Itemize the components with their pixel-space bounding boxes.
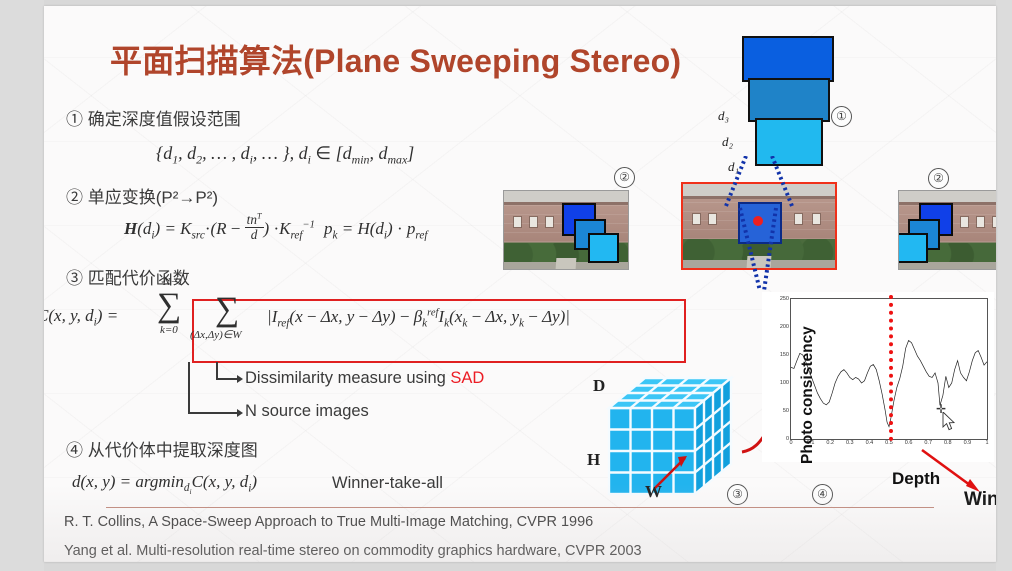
- branch-sub-trunk: [216, 362, 218, 379]
- chart-ytick: 200: [780, 324, 789, 330]
- figure-marker-two-right: ②: [928, 168, 949, 189]
- depth-plane-2: [748, 78, 830, 122]
- figure-marker-four: ④: [812, 484, 833, 505]
- photo-walkway: [556, 258, 577, 269]
- photo-ground: [899, 262, 996, 269]
- chart-ytick: 100: [780, 380, 789, 386]
- branch-arm-2: [188, 412, 238, 414]
- reference-divider: [106, 507, 934, 508]
- chart-xtick: 0.6: [905, 440, 913, 446]
- step-4-marker: ④: [66, 441, 83, 460]
- cost-sum-lower-limit: k=0: [160, 324, 178, 336]
- branch-arrowhead-1: [237, 375, 243, 383]
- photo-window: [530, 217, 537, 227]
- formula-depth-set: {d1, d2, … , di, … }, di ∈ [dmin, dmax]: [156, 143, 414, 168]
- formula-point-transfer: pk = H(di) · pref: [324, 219, 427, 241]
- branch-arm-1: [216, 378, 238, 380]
- cost-outer-sigma: ∑: [157, 287, 181, 325]
- slide-canvas: 平面扫描算法(Plane Sweeping Stereo) ① 确定深度值假设范…: [44, 6, 996, 562]
- sad-metric-label: SAD: [450, 369, 484, 387]
- chart-ylabel: Photo consistency: [799, 326, 817, 464]
- step-2: ② 单应变换(P²→P²): [66, 183, 218, 208]
- photo-window: [546, 217, 553, 227]
- photo-window: [961, 217, 968, 227]
- step-2-marker: ②: [66, 188, 83, 207]
- n-source-images-note: N source images: [245, 402, 369, 421]
- dissimilarity-note: Dissimilarity measure using SAD: [245, 369, 484, 388]
- branch-arrowhead-2: [237, 409, 243, 417]
- dissimilarity-note-prefix: Dissimilarity measure using: [245, 369, 450, 387]
- winner-callout-label: Winner: [964, 489, 996, 511]
- reference-1: R. T. Collins, A Space-Sweep Approach to…: [64, 514, 593, 530]
- formula-argmin: d(x, y) = argmindiC(x, y, di): [72, 472, 257, 497]
- branch-trunk: [188, 362, 190, 413]
- step-2-label: 单应变换(P²→P²): [88, 188, 218, 207]
- step-1-label: 确定深度值假设范围: [88, 110, 241, 129]
- formula-cost-lhs: C(x, y, di) =: [44, 306, 118, 328]
- photo-window: [993, 217, 996, 227]
- photo-window: [693, 214, 700, 224]
- step-1: ① 确定深度值假设范围: [66, 105, 241, 130]
- projection-rays: [704, 156, 814, 296]
- page-left-margin: [0, 0, 44, 571]
- source-image-left: [503, 190, 629, 270]
- cost-function-body: |Iref(x − Δx, y − Δy) − βkrefIk(xk − Δx,…: [267, 307, 570, 329]
- warped-patch-d1: [898, 233, 928, 263]
- chart-xtick: 0: [789, 440, 792, 446]
- warped-patch-d1: [588, 233, 619, 263]
- step-3-marker: ③: [66, 269, 83, 288]
- chart-ytick: 50: [783, 408, 789, 414]
- cost-volume-cube: D H W: [597, 372, 747, 498]
- figure-marker-one: ①: [831, 106, 852, 127]
- photo-window: [813, 214, 820, 224]
- chart-plot-frame: 0 50 100 150 200 250 0 0.1 0.2 0.3 0.4 0…: [790, 298, 988, 440]
- photo-window: [977, 217, 984, 227]
- source-image-right: [898, 190, 996, 270]
- chart-xtick: 0.2: [826, 440, 834, 446]
- cost-volume-cube-svg: [597, 372, 747, 498]
- slide-title: 平面扫描算法(Plane Sweeping Stereo): [110, 36, 681, 82]
- cube-label-width: W: [645, 482, 662, 502]
- winner-depth-vline: [889, 295, 893, 441]
- chart-xtick: 0.3: [846, 440, 854, 446]
- cost-inner-sigma: ∑: [215, 291, 239, 329]
- winner-take-all-note: Winner-take-all: [332, 474, 443, 493]
- photo-window: [514, 217, 521, 227]
- figure-marker-two-left: ②: [614, 167, 635, 188]
- cube-label-height: H: [587, 450, 600, 470]
- reference-2: Yang et al. Multi-resolution real-time s…: [64, 543, 642, 559]
- figure-marker-three: ③: [727, 484, 748, 505]
- cost-inner-sum-limit: (Δx,Δy)∈W: [190, 328, 242, 341]
- move-crosshair-icon: ✛: [936, 402, 946, 416]
- step-4-label: 从代价体中提取深度图: [88, 441, 258, 460]
- photo-consistency-chart: 0 50 100 150 200 250 0 0.1 0.2 0.3 0.4 0…: [762, 292, 994, 462]
- step-4: ④ 从代价体中提取深度图: [66, 436, 258, 461]
- depth-plane-3: [742, 36, 834, 82]
- chart-xtick: 0.4: [866, 440, 874, 446]
- chart-ytick: 250: [780, 296, 789, 302]
- chart-ytick: 150: [780, 352, 789, 358]
- step-1-marker: ①: [66, 110, 83, 129]
- depth-label-d2: d₂: [722, 134, 733, 150]
- figure-sweeping-planes: d₃ d₂ d₁: [734, 32, 884, 172]
- page-right-margin: [996, 0, 1012, 571]
- screenshot-root: 平面扫描算法(Plane Sweeping Stereo) ① 确定深度值假设范…: [0, 0, 1012, 571]
- depth-label-d3: d₃: [718, 108, 729, 124]
- chart-xtick: 0.5: [885, 440, 893, 446]
- cube-label-depth: D: [593, 376, 605, 396]
- formula-homography: H(di) = Ksrc·(R − tnT d ) ·Kref−1: [124, 213, 315, 242]
